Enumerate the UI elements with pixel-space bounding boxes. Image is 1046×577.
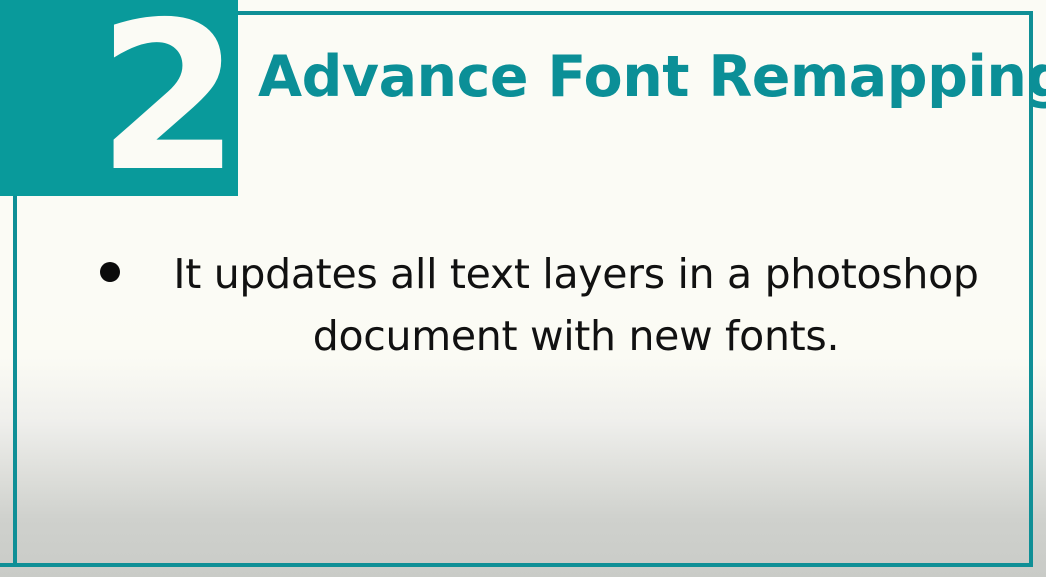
frame-border-left xyxy=(13,195,17,567)
frame-border-top xyxy=(238,11,1033,15)
slide-number-block: 2 xyxy=(0,0,238,196)
slide-body: It updates all text layers in a photosho… xyxy=(60,243,1020,367)
bullet-dot-icon xyxy=(100,262,120,282)
slide-number: 2 xyxy=(0,0,238,196)
slide-canvas: 2 Advance Font Remapping It updates all … xyxy=(0,0,1046,577)
list-item: It updates all text layers in a photosho… xyxy=(60,243,1020,367)
slide-title: Advance Font Remapping xyxy=(258,42,1018,112)
frame-border-bottom xyxy=(0,563,1033,567)
list-item-label: It updates all text layers in a photosho… xyxy=(166,243,986,367)
